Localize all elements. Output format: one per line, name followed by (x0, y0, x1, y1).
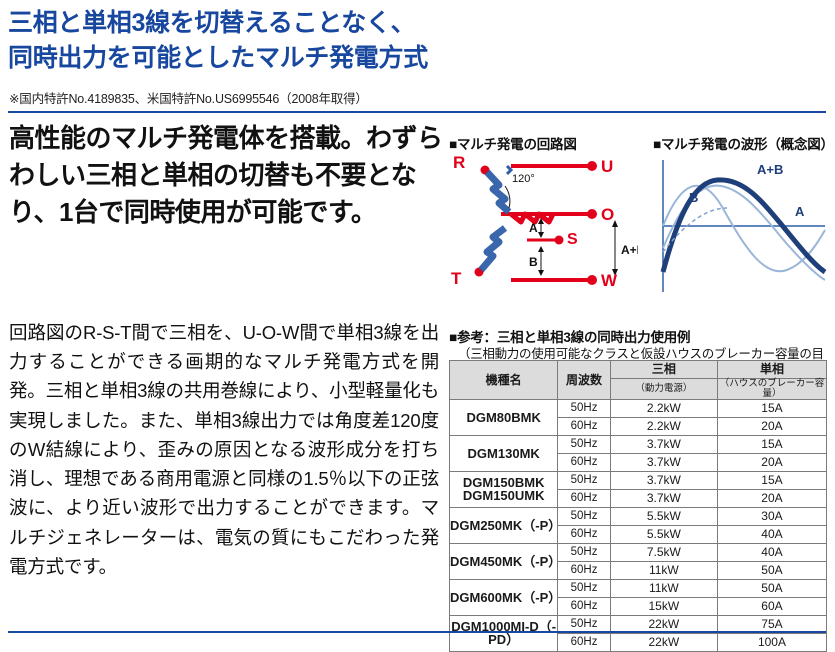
cell-single-phase: 100A (717, 633, 826, 651)
cell-three-phase: 11kW (610, 561, 717, 579)
header-three-phase: 三相 (610, 361, 717, 379)
cell-three-phase: 7.5kW (610, 543, 717, 561)
cell-frequency: 60Hz (558, 561, 610, 579)
cell-single-phase: 20A (717, 489, 826, 507)
cell-frequency: 60Hz (558, 597, 610, 615)
divider-bottom (8, 631, 826, 633)
circuit-label-o: O (601, 205, 614, 224)
headline-line2: 同時出力を可能としたマルチ発電方式 (8, 41, 568, 76)
cell-frequency: 60Hz (558, 633, 610, 651)
headline-line1: 三相と単相3線を切替えることなく、 (8, 9, 415, 37)
cell-model: DGM130MK (450, 435, 558, 471)
patent-note: ※国内特許No.4189835、米国特許No.US6995546（2008年取得… (9, 88, 368, 107)
header-single-phase: 単相 (717, 361, 826, 379)
cell-three-phase: 3.7kW (610, 489, 717, 507)
table-row: DGM150BMKDGM150UMK50Hz3.7kW15A (450, 471, 827, 489)
cell-frequency: 60Hz (558, 417, 610, 435)
table-row: DGM450MK（-P）50Hz7.5kW40A (450, 543, 827, 561)
wave-label-b: B (689, 190, 698, 205)
cell-frequency: 60Hz (558, 525, 610, 543)
cell-frequency: 60Hz (558, 489, 610, 507)
cell-frequency: 50Hz (558, 399, 610, 417)
wave-title: ■マルチ発電の波形（概念図） (653, 133, 834, 153)
cell-single-phase: 40A (717, 543, 826, 561)
cell-model: DGM1000MI-D（-PD） (450, 615, 558, 651)
table-row: DGM600MK（-P）50Hz11kW50A (450, 579, 827, 597)
header-freq: 周波数 (558, 361, 610, 400)
cell-single-phase: 50A (717, 579, 826, 597)
cell-single-phase: 60A (717, 597, 826, 615)
cell-three-phase: 5.5kW (610, 507, 717, 525)
cell-single-phase: 30A (717, 507, 826, 525)
cell-three-phase: 3.7kW (610, 453, 717, 471)
circuit-label-w: W (601, 271, 618, 290)
cell-three-phase: 3.7kW (610, 471, 717, 489)
cell-frequency: 60Hz (558, 453, 610, 471)
cell-frequency: 50Hz (558, 435, 610, 453)
cell-single-phase: 15A (717, 471, 826, 489)
wave-label-a: A (795, 204, 805, 219)
table-row: DGM250MK（-P）50Hz5.5kW30A (450, 507, 827, 525)
wave-diagram: A+B A B (653, 152, 828, 300)
cell-frequency: 50Hz (558, 543, 610, 561)
wave-label-ab: A+B (757, 162, 783, 177)
circuit-label-u: U (601, 157, 613, 176)
lead-paragraph: 高性能のマルチ発電体を搭載。わずらわしい三相と単相の切替も不要となり、1台で同時… (9, 120, 449, 231)
circuit-diagram: R S T U O W 120° A B A+B (449, 152, 638, 300)
cell-single-phase: 15A (717, 399, 826, 417)
circuit-label-angle: 120° (512, 173, 535, 185)
table-header-row: 機種名 周波数 三相 単相 (450, 361, 827, 379)
cell-model: DGM150BMKDGM150UMK (450, 471, 558, 507)
wave-diagram-svg: A+B A B (653, 152, 828, 300)
body-paragraph: 回路図のR-S-T間で三相を、U-O-W間で単相3線を出力することができる画期的… (9, 318, 439, 581)
cell-frequency: 50Hz (558, 471, 610, 489)
spec-table-head: 機種名 周波数 三相 単相 （動力電源） （ハウスのブレーカー容量） (450, 361, 827, 400)
spec-table: 機種名 周波数 三相 単相 （動力電源） （ハウスのブレーカー容量） DGM80… (449, 360, 827, 652)
cell-three-phase: 5.5kW (610, 525, 717, 543)
cell-single-phase: 20A (717, 453, 826, 471)
cell-single-phase: 40A (717, 525, 826, 543)
circuit-label-ab: A+B (621, 243, 638, 257)
circuit-label-a: A (529, 221, 538, 235)
header-three-phase-sub: （動力電源） (610, 379, 717, 400)
divider-top (8, 111, 826, 113)
headline: 三相と単相3線を切替えることなく、 同時出力を可能としたマルチ発電方式 (8, 6, 568, 75)
page-root: 三相と単相3線を切替えることなく、 同時出力を可能としたマルチ発電方式 ※国内特… (0, 0, 835, 641)
cell-three-phase: 3.7kW (610, 435, 717, 453)
cell-three-phase: 2.2kW (610, 417, 717, 435)
table-row: DGM80BMK50Hz2.2kW15A (450, 399, 827, 417)
cell-model: DGM600MK（-P） (450, 579, 558, 615)
table-row: DGM130MK50Hz3.7kW15A (450, 435, 827, 453)
cell-single-phase: 50A (717, 561, 826, 579)
cell-frequency: 50Hz (558, 579, 610, 597)
cell-single-phase: 15A (717, 435, 826, 453)
header-model: 機種名 (450, 361, 558, 400)
circuit-diagram-svg: R S T U O W 120° A B A+B (449, 152, 638, 300)
header-single-phase-sub: （ハウスのブレーカー容量） (717, 379, 826, 400)
circuit-label-r: R (453, 153, 465, 172)
cell-single-phase: 20A (717, 417, 826, 435)
cell-three-phase: 11kW (610, 579, 717, 597)
cell-model: DGM450MK（-P） (450, 543, 558, 579)
cell-three-phase: 22kW (610, 633, 717, 651)
circuit-label-b: B (529, 255, 538, 269)
circuit-title: ■マルチ発電の回路図 (449, 133, 577, 153)
spec-table-body: DGM80BMK50Hz2.2kW15A60Hz2.2kW20ADGM130MK… (450, 399, 827, 651)
cell-model: DGM250MK（-P） (450, 507, 558, 543)
cell-frequency: 50Hz (558, 507, 610, 525)
circuit-label-t: T (451, 269, 462, 288)
cell-three-phase: 2.2kW (610, 399, 717, 417)
cell-model: DGM80BMK (450, 399, 558, 435)
circuit-label-s: S (567, 231, 578, 248)
cell-three-phase: 15kW (610, 597, 717, 615)
